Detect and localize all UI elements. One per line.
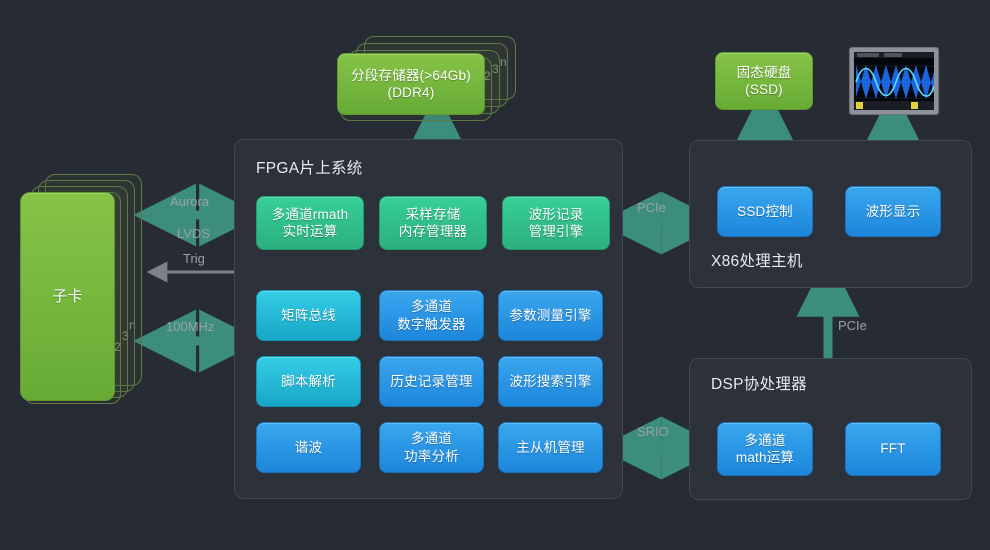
edge-label-aurora: Aurora: [170, 194, 209, 209]
edge-label-100mhz: 100MHz: [166, 319, 214, 334]
oscilloscope-header-text: [857, 53, 879, 57]
fpga-node-rmath-line2: 实时运算: [279, 223, 342, 240]
ssd-device[interactable]: 固态硬盘 (SSD): [715, 52, 813, 110]
memory-label-line2: (DDR4): [384, 84, 439, 101]
dsp-panel-title: DSP协处理器: [711, 372, 807, 394]
fpga-node-waveform-record[interactable]: 波形记录 管理引擎: [502, 196, 610, 250]
fpga-node-script-parse-line1: 脚本解析: [277, 373, 340, 390]
oscilloscope-ch2-indicator: [911, 102, 918, 109]
daughter-card[interactable]: 子卡: [20, 192, 115, 401]
architecture-diagram: n 3 2 1 分段存储器(>64Gb) (DDR4) n 3 2 1 子卡 A…: [0, 0, 990, 550]
dsp-node-math[interactable]: 多通道 math运算: [717, 422, 813, 476]
x86-node-waveform-display-line1: 波形显示: [862, 203, 925, 220]
oscilloscope-ch1-indicator: [856, 102, 863, 109]
fpga-node-rmath[interactable]: 多通道rmath 实时运算: [256, 196, 364, 250]
oscilloscope-screen: [854, 52, 934, 110]
dsp-node-fft-line1: FFT: [876, 440, 909, 457]
fpga-node-history-manage[interactable]: 历史记录管理: [379, 356, 484, 407]
fpga-node-rmath-line1: 多通道rmath: [268, 206, 353, 223]
fpga-node-sampling-line2: 内存管理器: [395, 223, 472, 240]
fpga-node-matrix-bus-line1: 矩阵总线: [277, 307, 340, 324]
edge-label-trig: Trig: [183, 251, 205, 266]
x86-node-ssd-control[interactable]: SSD控制: [717, 186, 813, 237]
dsp-node-math-line2: math运算: [732, 449, 798, 466]
fpga-node-digital-trigger-line2: 数字触发器: [393, 316, 470, 333]
fpga-node-harmonic[interactable]: 谐波: [256, 422, 361, 473]
fpga-node-record-line1: 波形记录: [525, 206, 588, 223]
fpga-node-matrix-bus[interactable]: 矩阵总线: [256, 290, 361, 341]
fpga-node-digital-trigger[interactable]: 多通道 数字触发器: [379, 290, 484, 341]
oscilloscope-header-text2: [884, 53, 902, 57]
fpga-node-power-analysis-line1: 多通道: [407, 430, 456, 447]
fpga-node-param-measure-line1: 参数测量引擎: [505, 307, 595, 324]
memory-label-line1: 分段存储器(>64Gb): [347, 67, 475, 84]
fpga-node-history-manage-line1: 历史记录管理: [386, 373, 476, 390]
ssd-label-line1: 固态硬盘: [733, 64, 796, 81]
fpga-node-waveform-search[interactable]: 波形搜索引擎: [498, 356, 603, 407]
x86-node-ssd-control-line1: SSD控制: [733, 203, 797, 220]
fpga-node-digital-trigger-line1: 多通道: [407, 298, 456, 315]
edge-label-pcie-fpga-x86: PCIe: [637, 200, 666, 215]
oscilloscope-waveform: [854, 52, 934, 110]
fpga-node-master-slave[interactable]: 主从机管理: [498, 422, 603, 473]
fpga-node-power-analysis[interactable]: 多通道 功率分析: [379, 422, 484, 473]
fpga-node-record-line2: 管理引擎: [525, 223, 588, 240]
ssd-label-line2: (SSD): [741, 81, 787, 98]
dsp-node-fft[interactable]: FFT: [845, 422, 941, 476]
edge-label-srio: SRIO: [637, 424, 669, 439]
fpga-node-master-slave-line1: 主从机管理: [512, 439, 589, 456]
dsp-node-math-line1: 多通道: [740, 432, 789, 449]
fpga-node-harmonic-line1: 谐波: [291, 439, 326, 456]
fpga-panel-title: FPGA片上系统: [256, 156, 363, 178]
fpga-node-param-measure[interactable]: 参数测量引擎: [498, 290, 603, 341]
x86-panel-title: X86处理主机: [711, 249, 803, 271]
oscilloscope-icon: [849, 47, 939, 115]
fpga-node-sampling-line1: 采样存储: [402, 206, 465, 223]
memory-block[interactable]: 分段存储器(>64Gb) (DDR4): [337, 53, 485, 115]
edge-label-pcie-dsp-x86: PCIe: [838, 318, 867, 333]
daughter-card-label: 子卡: [48, 287, 86, 306]
edge-label-lvds: LVDS: [177, 226, 210, 241]
fpga-node-waveform-search-line1: 波形搜索引擎: [505, 373, 595, 390]
fpga-node-script-parse[interactable]: 脚本解析: [256, 356, 361, 407]
fpga-node-power-analysis-line2: 功率分析: [400, 448, 463, 465]
x86-node-waveform-display[interactable]: 波形显示: [845, 186, 941, 237]
fpga-node-sampling-memory[interactable]: 采样存储 内存管理器: [379, 196, 487, 250]
